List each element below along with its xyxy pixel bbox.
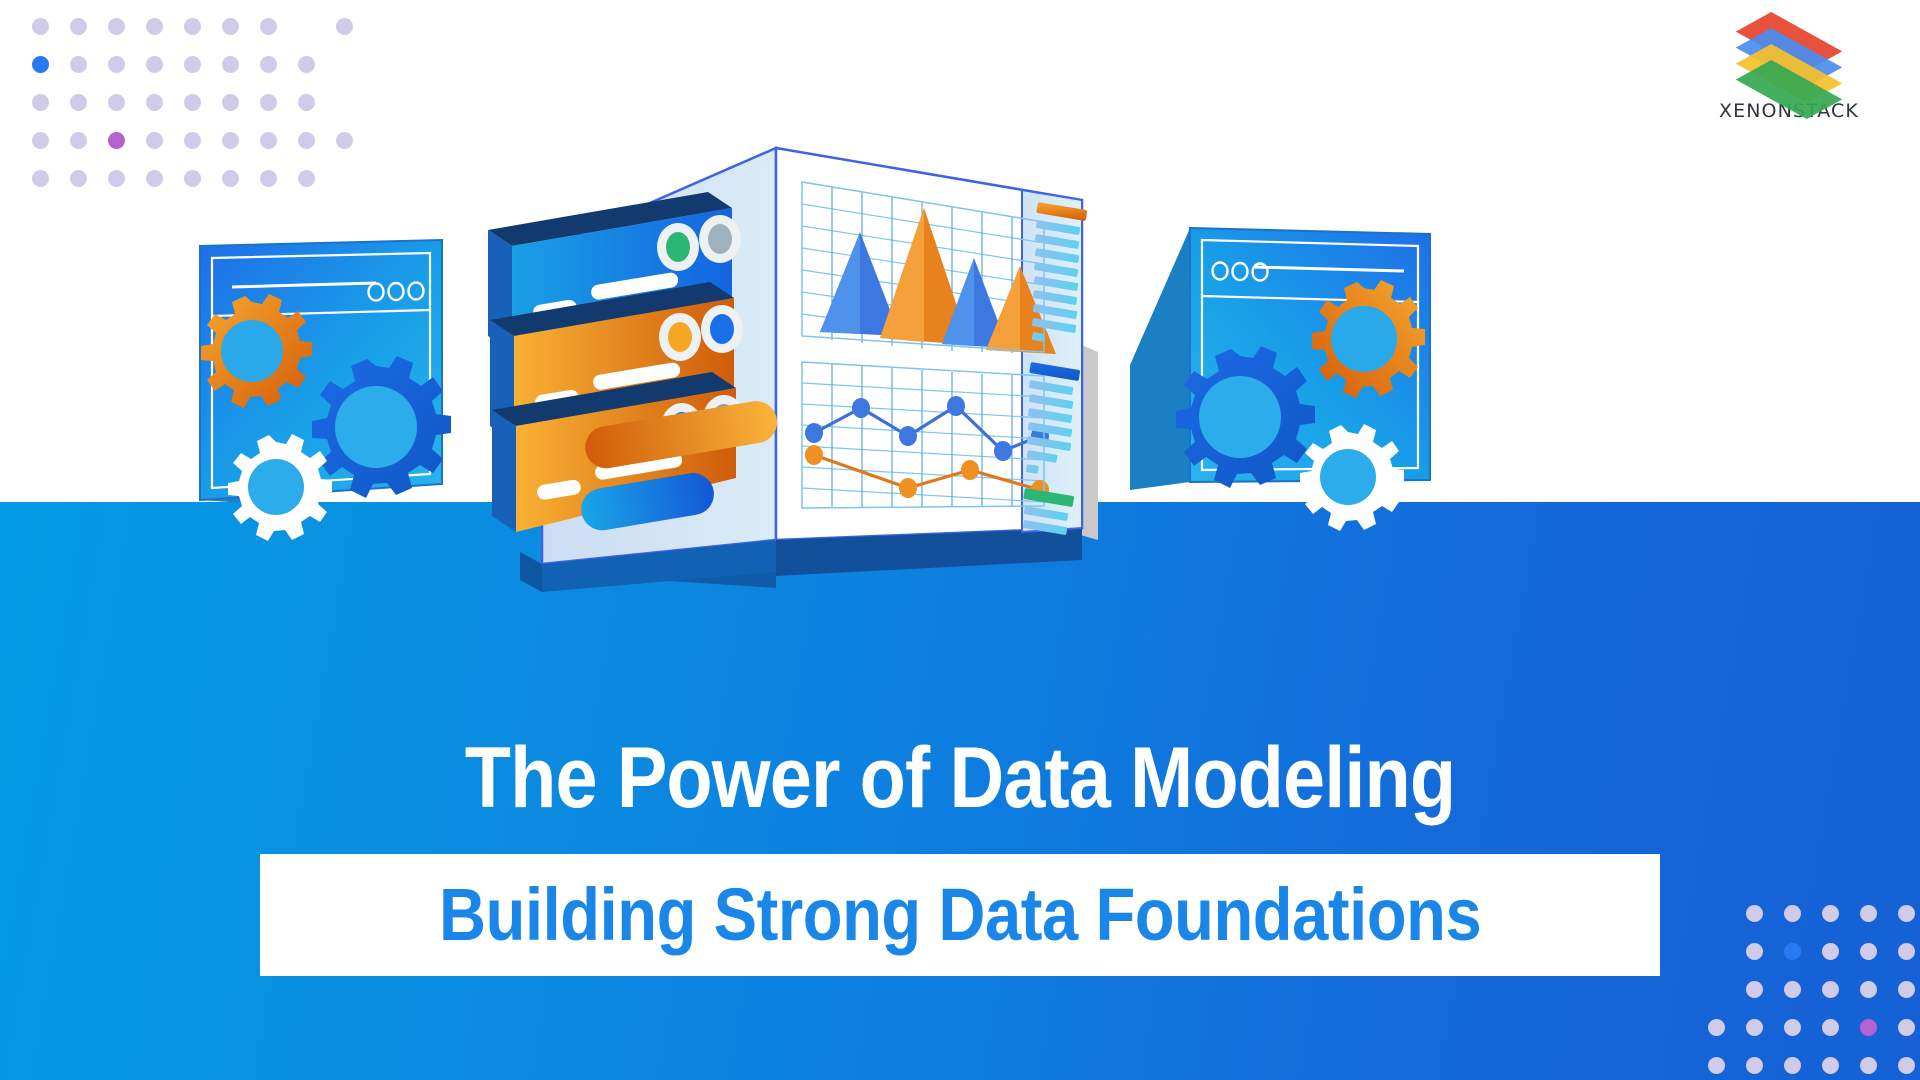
bottom-right-dot-blank xyxy=(1708,943,1725,960)
headline-block: The Power of Data Modeling xyxy=(0,730,1920,826)
top-left-dot xyxy=(146,94,163,111)
top-left-dot xyxy=(184,94,201,111)
top-left-dot xyxy=(108,94,125,111)
top-left-dot xyxy=(70,18,87,35)
bottom-right-dot xyxy=(1822,1019,1839,1036)
bottom-right-dot xyxy=(1860,943,1877,960)
bottom-right-dot xyxy=(1784,1019,1801,1036)
top-left-dot xyxy=(146,170,163,187)
bottom-right-dot xyxy=(1860,905,1877,922)
top-left-dot xyxy=(222,18,239,35)
bottom-right-dot xyxy=(1898,1019,1915,1036)
bottom-right-dot xyxy=(1898,943,1915,960)
bottom-right-dot xyxy=(1898,1057,1915,1074)
bottom-right-dot-accent-purple xyxy=(1860,1019,1877,1036)
bottom-right-dot xyxy=(1822,1057,1839,1074)
browser-window-right xyxy=(1130,228,1430,531)
top-left-dot xyxy=(298,56,315,73)
top-left-dot xyxy=(146,56,163,73)
top-left-dot xyxy=(146,18,163,35)
subtitle-bar: Building Strong Data Foundations xyxy=(260,854,1660,976)
stacked-layers-icon xyxy=(1741,16,1837,94)
bottom-right-dot xyxy=(1708,1057,1725,1074)
page-title: The Power of Data Modeling xyxy=(115,730,1805,826)
top-left-dot xyxy=(260,56,277,73)
browser-window-left xyxy=(200,240,451,541)
top-left-dot xyxy=(32,170,49,187)
top-left-dot xyxy=(70,56,87,73)
top-left-dot xyxy=(108,56,125,73)
top-left-dot-blank xyxy=(336,94,353,111)
page-subtitle: Building Strong Data Foundations xyxy=(439,875,1481,955)
top-left-dot xyxy=(184,18,201,35)
bottom-right-dot xyxy=(1822,943,1839,960)
bottom-right-dot-blank xyxy=(1708,981,1725,998)
top-left-dot xyxy=(298,94,315,111)
top-left-dot xyxy=(222,56,239,73)
top-left-dot xyxy=(70,94,87,111)
top-left-dot xyxy=(32,94,49,111)
banner-canvas: XENONSTACK xyxy=(0,0,1920,1080)
bottom-right-dot xyxy=(1746,943,1763,960)
bottom-right-dot xyxy=(1822,905,1839,922)
brand-logo: XENONSTACK xyxy=(1704,16,1874,122)
bottom-right-dot-accent-blue xyxy=(1784,943,1801,960)
top-left-dot xyxy=(70,132,87,149)
bottom-right-dot xyxy=(1746,1019,1763,1036)
top-left-dot xyxy=(108,170,125,187)
dot-grid-bottom-right xyxy=(1708,905,1915,1074)
top-left-dot xyxy=(32,18,49,35)
bottom-right-dot xyxy=(1746,905,1763,922)
top-left-dot xyxy=(32,132,49,149)
data-modeling-illustration xyxy=(180,140,1740,720)
bottom-right-dot xyxy=(1898,981,1915,998)
bottom-right-dot-blank xyxy=(1708,905,1725,922)
bottom-right-dot xyxy=(1784,981,1801,998)
bottom-right-dot xyxy=(1822,981,1839,998)
bottom-right-dot xyxy=(1860,981,1877,998)
top-left-dot-blank xyxy=(336,56,353,73)
top-left-dot xyxy=(184,56,201,73)
center-data-panel xyxy=(488,148,1098,592)
bottom-right-dot xyxy=(1708,1019,1725,1036)
bottom-right-dot xyxy=(1784,1057,1801,1074)
top-left-dot-blank xyxy=(298,18,315,35)
top-left-dot xyxy=(146,132,163,149)
top-left-dot xyxy=(70,170,87,187)
bottom-right-dot xyxy=(1898,905,1915,922)
top-left-dot xyxy=(336,18,353,35)
bottom-right-dot xyxy=(1860,1057,1877,1074)
top-left-dot xyxy=(108,18,125,35)
top-left-dot-accent-blue xyxy=(32,56,49,73)
bottom-right-dot xyxy=(1746,981,1763,998)
bottom-right-dot xyxy=(1746,1057,1763,1074)
top-left-dot-accent-purple xyxy=(108,132,125,149)
bottom-right-dot xyxy=(1784,905,1801,922)
top-left-dot xyxy=(260,18,277,35)
top-left-dot xyxy=(260,94,277,111)
top-left-dot xyxy=(222,94,239,111)
